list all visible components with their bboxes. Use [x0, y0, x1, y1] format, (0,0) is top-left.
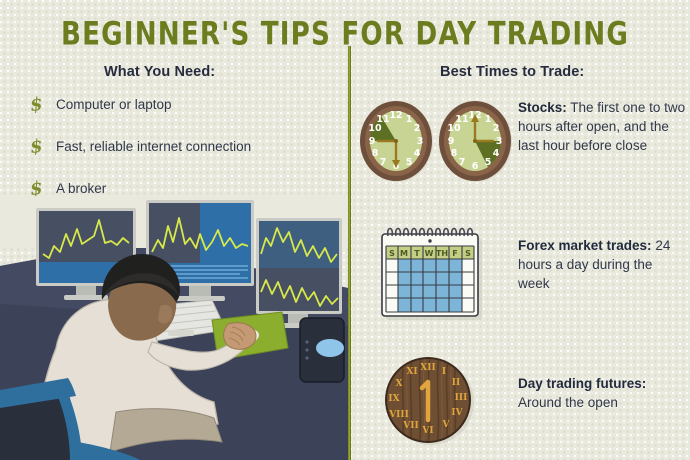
- svg-text:T: T: [414, 249, 420, 258]
- svg-text:4: 4: [414, 148, 421, 159]
- svg-text:3: 3: [417, 136, 424, 147]
- laptop-device: [300, 318, 344, 382]
- wooden-clock-art: XII I II III IV V VI VII VIII IX X XI: [378, 348, 482, 457]
- list-item: $ Computer or laptop: [30, 96, 330, 116]
- left-column-heading: What You Need:: [104, 64, 215, 80]
- svg-text:2: 2: [414, 123, 421, 134]
- svg-text:11: 11: [376, 114, 389, 125]
- dollar-sign-icon: $: [29, 137, 49, 156]
- dollar-sign-icon: $: [29, 95, 49, 114]
- svg-text:1: 1: [406, 114, 413, 125]
- svg-text:3: 3: [496, 136, 503, 147]
- svg-text:IX: IX: [388, 394, 399, 404]
- svg-text:IV: IV: [451, 408, 463, 418]
- svg-text:7: 7: [459, 157, 466, 168]
- center-divider: [348, 46, 351, 460]
- svg-text:XII: XII: [420, 363, 435, 373]
- clock-two-icon: 12 1 2 3 4 5 6 7 8 9 10 11: [439, 101, 512, 182]
- svg-text:5: 5: [485, 157, 492, 168]
- list-item-label: Computer or laptop: [48, 96, 172, 114]
- forex-description: Forex market trades: 24 hours a day duri…: [518, 236, 686, 293]
- futures-label: Day trading futures:: [518, 376, 646, 391]
- svg-text:I: I: [442, 367, 446, 377]
- svg-text:8: 8: [372, 148, 379, 159]
- svg-text:TH: TH: [436, 249, 448, 258]
- svg-text:VIII: VIII: [388, 410, 409, 420]
- svg-text:M: M: [400, 249, 408, 258]
- svg-text:6: 6: [472, 161, 479, 172]
- svg-text:S: S: [465, 249, 471, 258]
- clock-one-icon: 12 1 2 3 4 5 6 7 8 9 10 11: [360, 101, 433, 182]
- futures-body: Around the open: [518, 395, 618, 410]
- svg-text:12: 12: [389, 110, 402, 121]
- svg-text:1: 1: [485, 114, 492, 125]
- svg-text:VII: VII: [402, 421, 418, 431]
- monitor-right: [256, 218, 342, 328]
- page-title: BEGINNER'S TIPS FOR DAY TRADING: [10, 16, 679, 53]
- svg-text:S: S: [389, 249, 395, 258]
- svg-text:W: W: [425, 249, 434, 258]
- svg-text:II: II: [452, 378, 460, 388]
- svg-text:5: 5: [406, 157, 413, 168]
- svg-text:VI: VI: [421, 426, 433, 436]
- svg-text:9: 9: [448, 136, 455, 147]
- svg-text:11: 11: [455, 114, 468, 125]
- svg-text:4: 4: [493, 148, 500, 159]
- stocks-clocks-art: 12 1 2 3 4 5 6 7 8 9 10 11: [358, 96, 514, 191]
- list-item: $ Fast, reliable internet connection: [30, 138, 330, 158]
- day-trader-illustration: [0, 196, 348, 460]
- right-column-heading: Best Times to Trade:: [440, 64, 584, 80]
- svg-text:8: 8: [451, 148, 458, 159]
- svg-text:F: F: [452, 249, 457, 258]
- svg-text:III: III: [455, 393, 468, 403]
- calendar-art: S M T W TH F S: [372, 222, 496, 329]
- svg-text:7: 7: [380, 157, 387, 168]
- list-item-label: Fast, reliable internet connection: [48, 138, 251, 156]
- svg-text:9: 9: [369, 136, 376, 147]
- svg-text:2: 2: [493, 123, 500, 134]
- stocks-description: Stocks: The first one to two hours after…: [518, 98, 686, 155]
- svg-text:X: X: [396, 379, 403, 389]
- stocks-label: Stocks:: [518, 100, 567, 115]
- futures-description: Day trading futures: Around the open: [518, 374, 686, 412]
- svg-text:XI: XI: [406, 367, 417, 377]
- infographic-canvas: BEGINNER'S TIPS FOR DAY TRADING What You…: [0, 0, 690, 460]
- svg-text:V: V: [442, 420, 451, 430]
- forex-label: Forex market trades:: [518, 238, 652, 253]
